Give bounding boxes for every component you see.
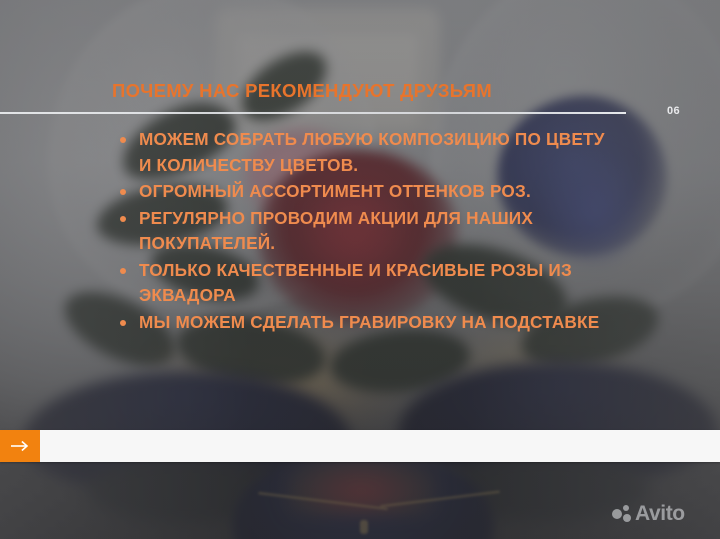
bottom-bar: [0, 430, 720, 462]
benefits-list: МОЖЕМ СОБРАТЬ ЛЮБУЮ КОМПОЗИЦИЮ ПО ЦВЕТУ …: [120, 127, 620, 336]
page-title: ПОЧЕМУ НАС РЕКОМЕНДУЮТ ДРУЗЬЯМ: [112, 80, 492, 102]
avito-dots-logo-icon: [612, 505, 632, 523]
list-item: РЕГУЛЯРНО ПРОВОДИМ АКЦИИ ДЛЯ НАШИХ ПОКУП…: [120, 206, 620, 257]
avito-watermark: Avito: [612, 503, 685, 524]
list-item: ТОЛЬКО КАЧЕСТВЕННЫЕ И КРАСИВЫЕ РОЗЫ ИЗ Э…: [120, 258, 620, 309]
presentation-slide: ПОЧЕМУ НАС РЕКОМЕНДУЮТ ДРУЗЬЯМ 06 МОЖЕМ …: [0, 0, 720, 539]
page-number: 06: [667, 105, 680, 117]
watermark-text: Avito: [635, 503, 685, 524]
list-item: ОГРОМНЫЙ АССОРТИМЕНТ ОТТЕНКОВ РОЗ.: [120, 179, 620, 205]
list-item: МОЖЕМ СОБРАТЬ ЛЮБУЮ КОМПОЗИЦИЮ ПО ЦВЕТУ …: [120, 127, 620, 178]
arrow-right-icon: [10, 440, 30, 452]
list-item: МЫ МОЖЕМ СДЕЛАТЬ ГРАВИРОВКУ НА ПОДСТАВКЕ: [120, 310, 620, 336]
next-slide-button[interactable]: [0, 430, 40, 462]
title-divider: [0, 112, 626, 114]
slide-content: ПОЧЕМУ НАС РЕКОМЕНДУЮТ ДРУЗЬЯМ 06 МОЖЕМ …: [0, 0, 720, 539]
